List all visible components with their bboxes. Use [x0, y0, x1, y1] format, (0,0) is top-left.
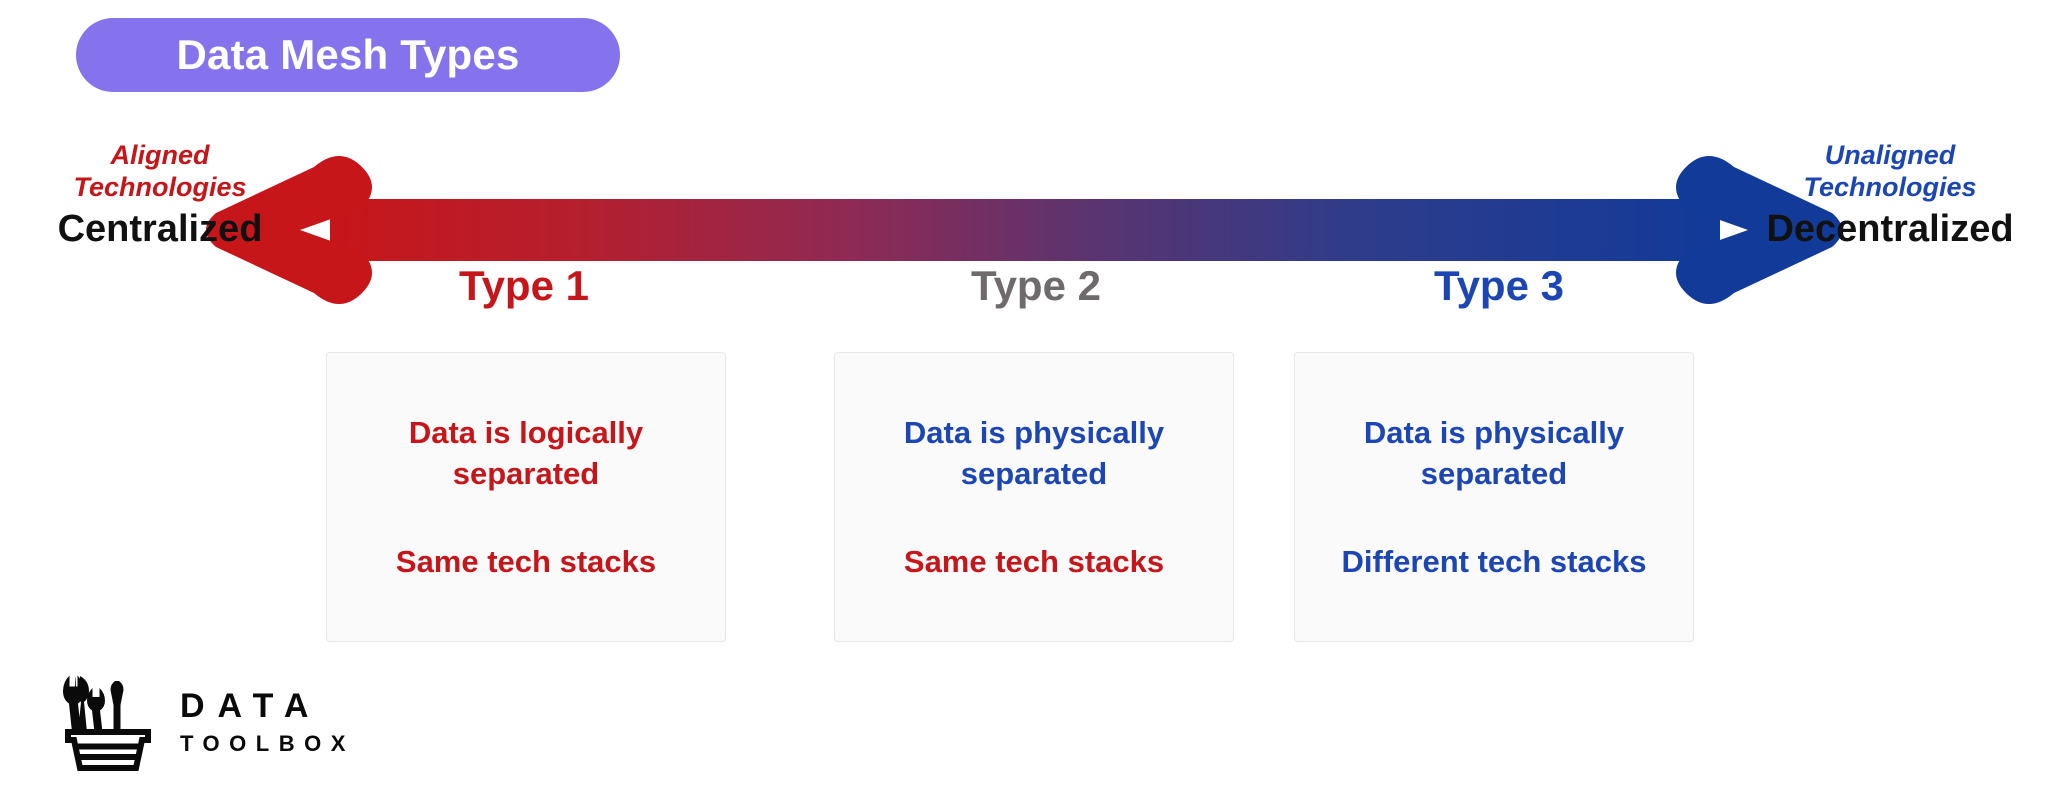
card-1-separation-text: Data is logically separated — [391, 412, 661, 495]
type-3-card: Data is physically separated Different t… — [1294, 352, 1694, 642]
centralized-label: Centralized — [30, 207, 290, 252]
card-3-separation-text: Data is physically separated — [1359, 412, 1629, 495]
type-3-caption: Type 3 — [1349, 265, 1649, 307]
card-3-tech-stack-text: Different tech stacks — [1342, 541, 1647, 583]
toolbox-with-tools-icon — [62, 672, 154, 772]
aligned-technologies-label: Aligned Technologies — [30, 140, 290, 204]
logo-primary-text: DATA — [180, 689, 355, 723]
page-title: Data Mesh Types — [177, 34, 520, 76]
logo-secondary-text: TOOLBOX — [180, 733, 355, 755]
card-1-tech-stack-text: Same tech stacks — [396, 541, 656, 583]
spectrum-right-end-label: Unaligned Technologies Decentralized — [1740, 140, 2040, 252]
type-1-card: Data is logically separated Same tech st… — [326, 352, 726, 642]
card-2-separation-text: Data is physically separated — [899, 412, 1169, 495]
type-1-caption: Type 1 — [374, 265, 674, 307]
type-2-card: Data is physically separated Same tech s… — [834, 352, 1234, 642]
arrow-shaft — [330, 199, 1720, 261]
unaligned-technologies-label: Unaligned Technologies — [1740, 140, 2040, 204]
brand-logo: DATA TOOLBOX — [62, 672, 355, 772]
logo-wordmark: DATA TOOLBOX — [180, 689, 355, 755]
spectrum-left-end-label: Aligned Technologies Centralized — [30, 140, 290, 252]
type-2-caption: Type 2 — [886, 265, 1186, 307]
decentralized-label: Decentralized — [1740, 207, 2040, 252]
card-2-tech-stack-text: Same tech stacks — [904, 541, 1164, 583]
page-title-badge: Data Mesh Types — [76, 18, 620, 92]
